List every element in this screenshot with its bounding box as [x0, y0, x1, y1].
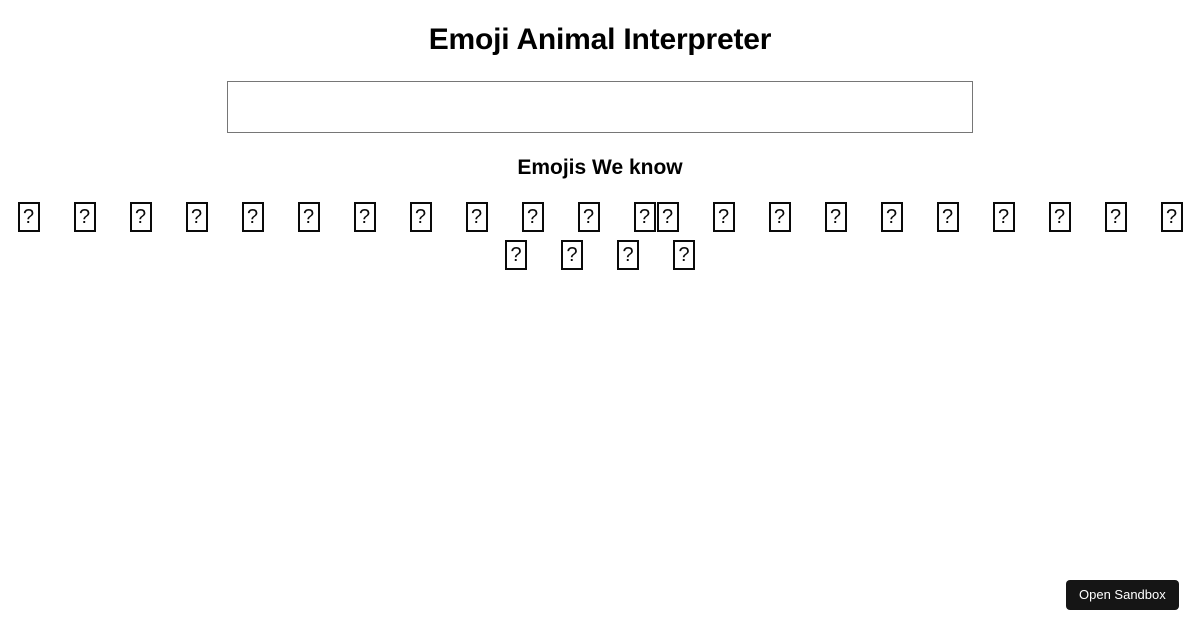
emoji-list-item[interactable]: ?: [544, 236, 600, 274]
missing-glyph-box-icon: ?: [1049, 202, 1071, 232]
missing-glyph-box-icon: ?: [578, 202, 600, 232]
emoji-list-item[interactable]: ?: [600, 236, 656, 274]
emoji-list-item[interactable]: ?: [113, 198, 169, 236]
missing-glyph-box-icon: ?: [242, 202, 264, 232]
emoji-list-item[interactable]: ?: [1, 198, 57, 236]
page-title: Emoji Animal Interpreter: [0, 22, 1200, 58]
missing-glyph-box-icon: ?: [769, 202, 791, 232]
emoji-list-item[interactable]: ?: [57, 198, 113, 236]
emoji-list-item[interactable]: ?: [864, 198, 920, 236]
missing-glyph-box-icon: ?: [657, 202, 679, 232]
missing-glyph-box-icon: ?: [561, 240, 583, 270]
emoji-list: ??????????????????????????: [0, 198, 1200, 274]
missing-glyph-box-icon: ?: [410, 202, 432, 232]
emoji-input-wrapper: [227, 81, 973, 133]
emoji-list-item[interactable]: ?: [488, 236, 544, 274]
emoji-list-heading: Emojis We know: [0, 155, 1200, 181]
missing-glyph-box-icon: ?: [881, 202, 903, 232]
missing-glyph-box-icon: ?: [18, 202, 40, 232]
missing-glyph-box-icon: ?: [130, 202, 152, 232]
missing-glyph-box-icon: ?: [466, 202, 488, 232]
emoji-list-item[interactable]: ?: [337, 198, 393, 236]
interpretation-result: [0, 300, 1200, 340]
missing-glyph-box-icon: ?: [634, 202, 656, 232]
missing-glyph-box-icon: ?: [354, 202, 376, 232]
emoji-list-item[interactable]: ?: [1032, 198, 1088, 236]
emoji-list-item[interactable]: ?: [808, 198, 864, 236]
emoji-list-item[interactable]: ?: [169, 198, 225, 236]
missing-glyph-box-icon: ?: [825, 202, 847, 232]
emoji-list-item[interactable]: ?: [1144, 198, 1200, 236]
missing-glyph-box-icon: ?: [673, 240, 695, 270]
emoji-list-item[interactable]: ?: [656, 236, 712, 274]
emoji-list-item[interactable]: ?: [752, 198, 808, 236]
app-root: Emoji Animal Interpreter Emojis We know …: [0, 0, 1200, 630]
missing-glyph-box-icon: ?: [505, 240, 527, 270]
emoji-list-item[interactable]: ?: [281, 198, 337, 236]
open-sandbox-button[interactable]: Open Sandbox: [1066, 580, 1179, 610]
missing-glyph-box-icon: ?: [617, 240, 639, 270]
emoji-list-item[interactable]: ?: [505, 198, 561, 236]
missing-glyph-box-icon: ?: [74, 202, 96, 232]
emoji-list-item[interactable]: ??: [617, 198, 696, 236]
emoji-list-item[interactable]: ?: [561, 198, 617, 236]
emoji-list-item[interactable]: ?: [696, 198, 752, 236]
emoji-list-item[interactable]: ?: [449, 198, 505, 236]
missing-glyph-box-icon: ?: [937, 202, 959, 232]
emoji-list-item[interactable]: ?: [393, 198, 449, 236]
missing-glyph-box-icon: ?: [713, 202, 735, 232]
missing-glyph-box-icon: ?: [1161, 202, 1183, 232]
emoji-list-item[interactable]: ?: [1088, 198, 1144, 236]
missing-glyph-box-icon: ?: [522, 202, 544, 232]
missing-glyph-box-icon: ?: [1105, 202, 1127, 232]
missing-glyph-box-icon: ?: [186, 202, 208, 232]
emoji-list-item[interactable]: ?: [920, 198, 976, 236]
missing-glyph-box-icon: ?: [298, 202, 320, 232]
emoji-search-input[interactable]: [227, 81, 973, 133]
emoji-list-item[interactable]: ?: [976, 198, 1032, 236]
emoji-list-item[interactable]: ?: [225, 198, 281, 236]
missing-glyph-box-icon: ?: [993, 202, 1015, 232]
